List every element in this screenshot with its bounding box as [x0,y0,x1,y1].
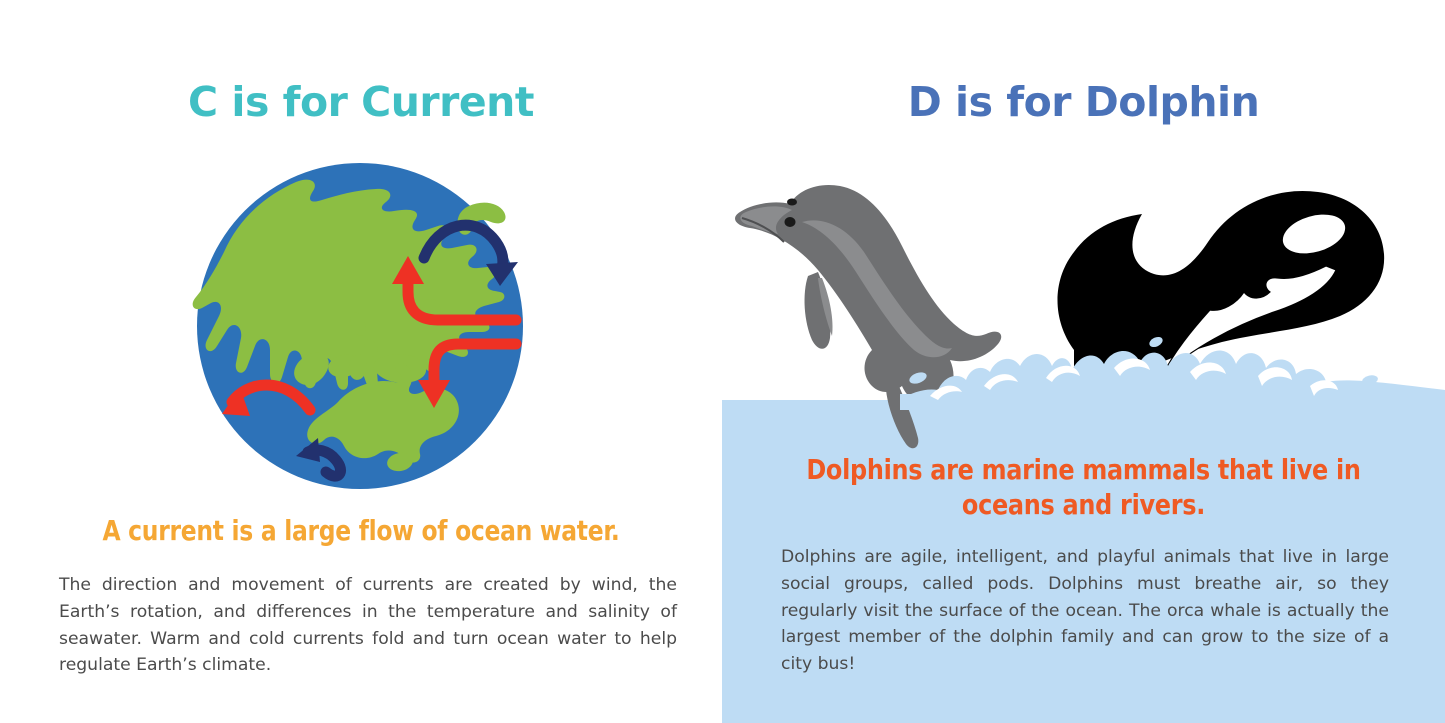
ocean-waves [900,320,1445,410]
earth-globe-illustration [186,160,534,492]
dolphin-eye [785,217,796,227]
page-title-current: C is for Current [0,78,722,126]
book-spread: C is for Current [0,0,1445,723]
page-left-current: C is for Current [0,0,722,723]
page-title-dolphin: D is for Dolphin [722,78,1445,126]
subheadline-dolphin: Dolphins are marine mammals that live in… [778,452,1389,523]
body-text-dolphin: Dolphins are agile, intelligent, and pla… [781,544,1389,678]
dolphin-blowhole [787,199,797,206]
body-text-current: The direction and movement of currents a… [59,572,677,679]
subheadline-current: A current is a large flow of ocean water… [25,513,696,548]
